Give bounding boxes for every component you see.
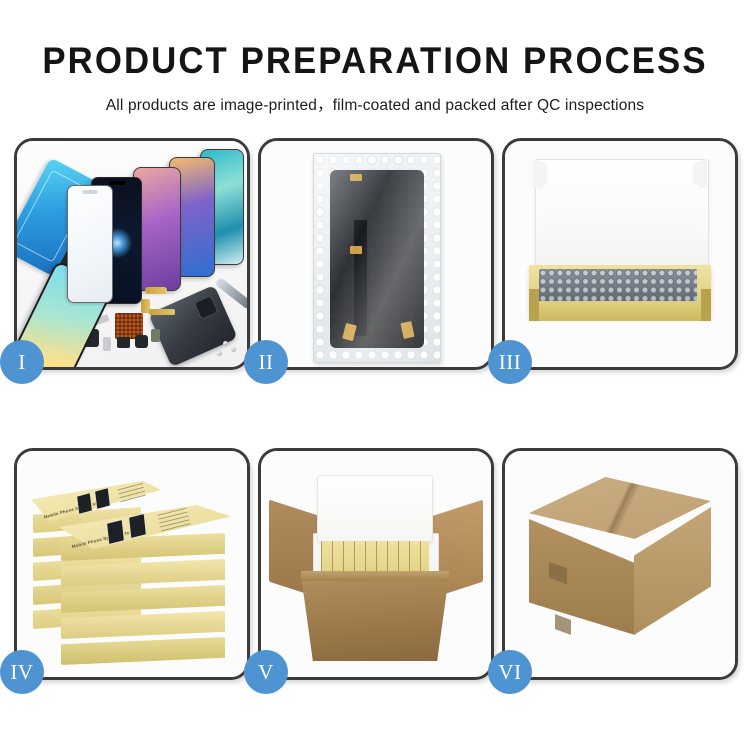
step-badge-3: III bbox=[488, 340, 532, 384]
step-badge-6: VI bbox=[488, 650, 532, 694]
carton-face-left bbox=[529, 519, 635, 635]
process-step-panel-5: V bbox=[258, 448, 494, 680]
box-stack: Mobile Phone Spare Parts Mobile Phone Sp… bbox=[31, 475, 231, 661]
page-header: PRODUCT PREPARATION PROCESS All products… bbox=[0, 0, 750, 115]
step-badge-4: IV bbox=[0, 650, 44, 694]
screen-protector bbox=[67, 185, 113, 303]
foam-lined-inner-box-image bbox=[505, 141, 735, 367]
page-title: PRODUCT PREPARATION PROCESS bbox=[23, 42, 728, 79]
carton-with-foam-liner-image bbox=[261, 451, 491, 677]
bubble-wrapped-contents bbox=[539, 269, 697, 303]
process-step-panel-1: I bbox=[14, 138, 250, 370]
step-badge-2: II bbox=[244, 340, 288, 384]
process-step-grid: I II III bbox=[14, 138, 736, 678]
foam-sheet bbox=[543, 185, 699, 277]
step-badge-1: I bbox=[0, 340, 44, 384]
step-badge-5: V bbox=[244, 650, 288, 694]
page-subtitle: All products are image-printed，film-coat… bbox=[0, 93, 750, 115]
stacked-retail-boxes-image: Mobile Phone Spare Parts Mobile Phone Sp… bbox=[17, 451, 247, 677]
product-lineup-image bbox=[17, 141, 247, 367]
bubble-wrapped-screen-image bbox=[261, 141, 491, 367]
process-step-panel-6: VI bbox=[502, 448, 738, 680]
process-step-panel-3: III bbox=[502, 138, 738, 370]
foam-lid bbox=[317, 475, 433, 543]
process-step-panel-4: Mobile Phone Spare Parts Mobile Phone Sp… bbox=[14, 448, 250, 680]
process-step-panel-2: II bbox=[258, 138, 494, 370]
sealed-shipping-carton-image bbox=[505, 451, 735, 677]
bubble-wrap-bag bbox=[313, 153, 441, 363]
carton-tape-lower bbox=[555, 614, 571, 635]
carton-body bbox=[301, 575, 449, 661]
